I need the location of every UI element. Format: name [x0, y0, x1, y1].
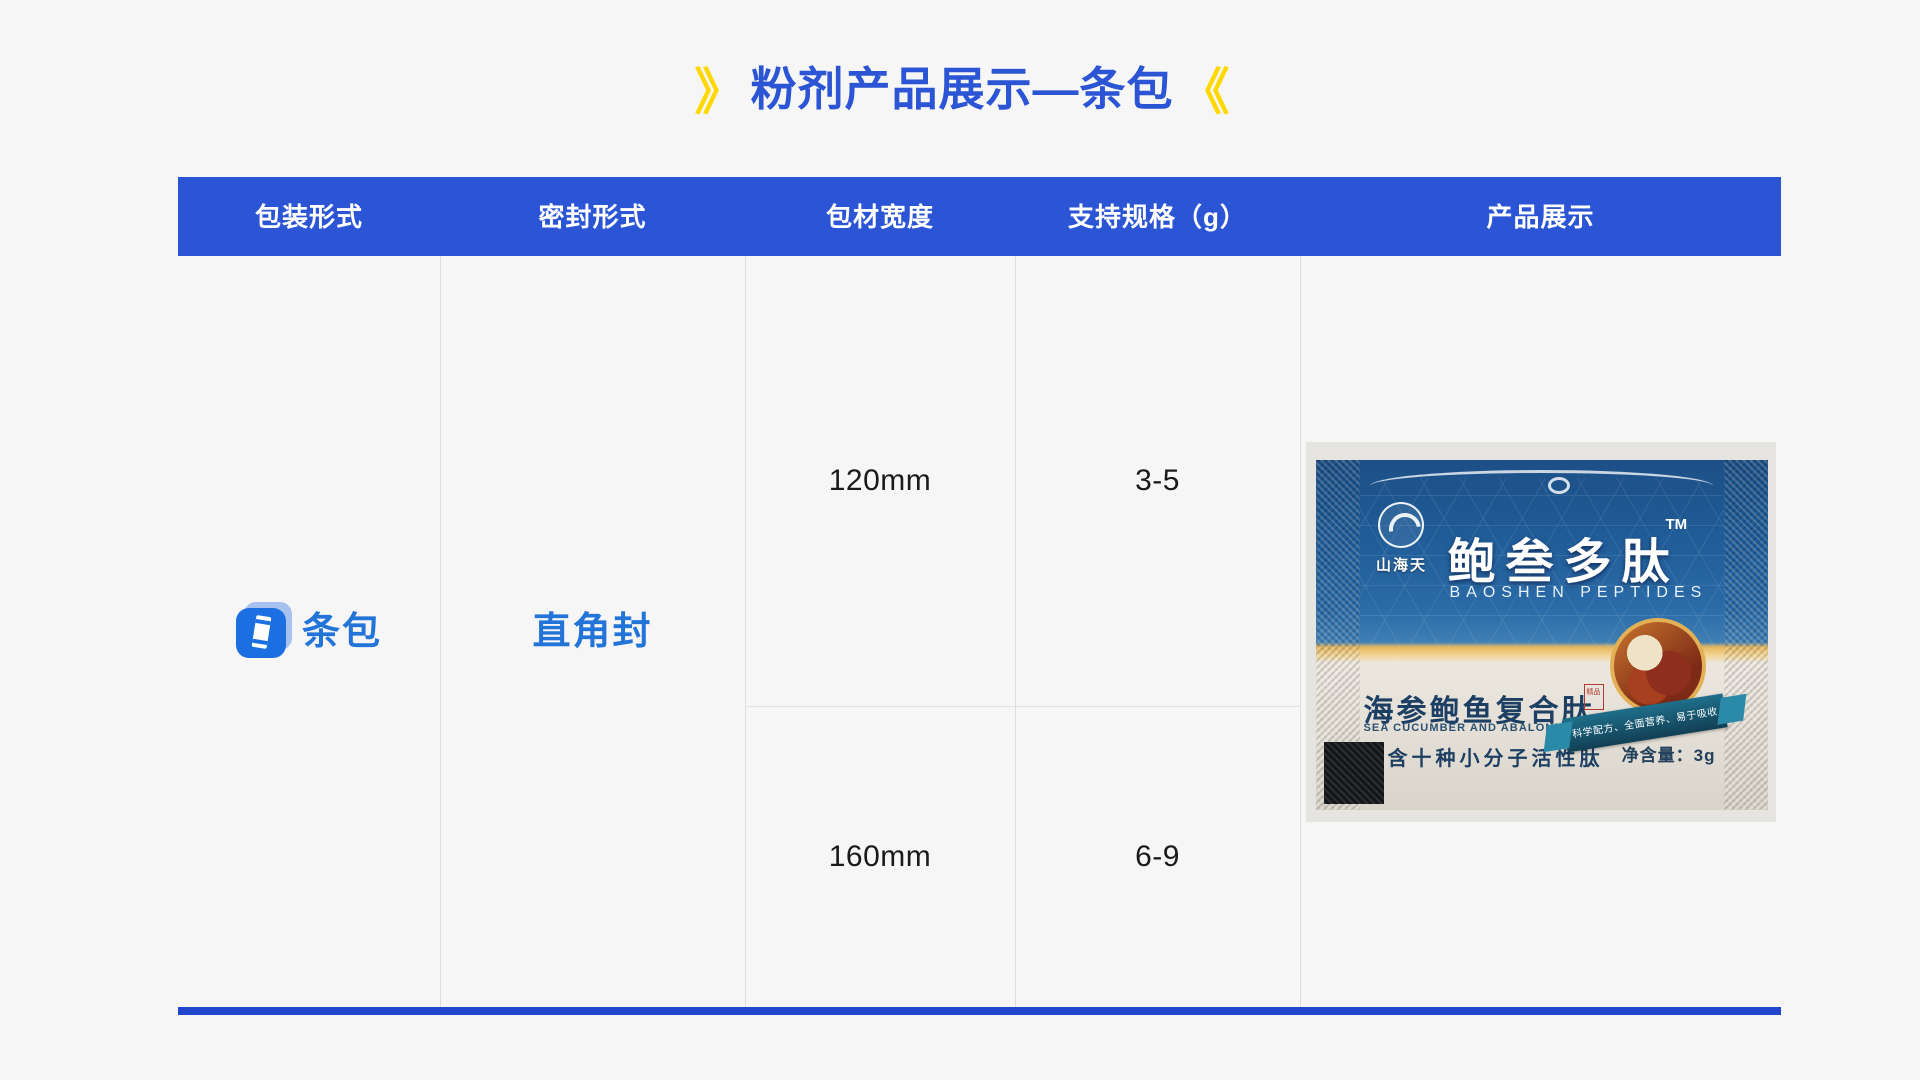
- table-header-row: 包装形式 密封形式 包材宽度 支持规格（g） 产品展示: [178, 177, 1781, 256]
- brand-mark-text: 山海天: [1364, 554, 1440, 575]
- cell-package-form: 条包: [178, 256, 440, 1007]
- column-header-seal-form: 密封形式: [440, 204, 745, 230]
- cell-seal-form: 直角封: [440, 256, 745, 1007]
- cell-material-width-row2: 160mm: [745, 706, 1015, 1007]
- stick-pack-icon: [236, 606, 288, 658]
- trademark-symbol: TM: [1666, 516, 1688, 533]
- product-photo: 山海天 鲍叁多肽 TM BAOSHEN PEPTIDES 海参鲍鱼复合肽 精品 …: [1306, 442, 1776, 822]
- cell-product-display: 山海天 鲍叁多肽 TM BAOSHEN PEPTIDES 海参鲍鱼复合肽 精品 …: [1300, 256, 1781, 1007]
- spec-value: 6-9: [1135, 840, 1180, 874]
- quality-stamp: 精品: [1584, 684, 1604, 710]
- column-header-product-display: 产品展示: [1300, 204, 1781, 230]
- net-weight-text: 净含量：3g: [1622, 741, 1716, 766]
- page-title-text: 粉剂产品展示—条包: [751, 53, 1174, 119]
- spec-value: 3-5: [1135, 464, 1180, 498]
- sachet-artwork: 山海天 鲍叁多肽 TM BAOSHEN PEPTIDES 海参鲍鱼复合肽 精品 …: [1316, 460, 1768, 810]
- column-header-package-form: 包装形式: [178, 204, 440, 230]
- column-header-material-width: 包材宽度: [745, 204, 1015, 230]
- slide-root: 》粉剂产品展示—条包《 包装形式 密封形式 包材宽度 支持规格（g） 产品展示: [0, 0, 1920, 1080]
- column-header-spec-g: 支持规格（g）: [1015, 204, 1300, 230]
- product-name-en: BAOSHEN PEPTIDES: [1450, 584, 1708, 602]
- material-width-value: 120mm: [829, 464, 932, 498]
- table-body: 条包 直角封 120mm 3-5 160mm 6-9: [178, 256, 1781, 1007]
- tear-strip-notch: [1324, 742, 1384, 804]
- material-width-value: 160mm: [829, 840, 932, 874]
- product-name-cn: 鲍叁多肽: [1448, 522, 1680, 592]
- package-form-label: 条包: [302, 613, 382, 651]
- page-title: 》粉剂产品展示—条包《: [0, 52, 1920, 124]
- chevron-left-decor-right-icon: 《: [1180, 52, 1226, 124]
- spec-table: 包装形式 密封形式 包材宽度 支持规格（g） 产品展示 条: [178, 177, 1781, 1007]
- cell-material-width-row1: 120mm: [745, 256, 1015, 706]
- seal-form-label: 直角封: [532, 613, 652, 651]
- cell-spec-row2: 6-9: [1015, 706, 1300, 1007]
- table-bottom-rule: [178, 1007, 1781, 1015]
- cell-spec-row1: 3-5: [1015, 256, 1300, 706]
- brand-logo-icon: [1378, 502, 1424, 548]
- chevron-right-decor-left-icon: 》: [695, 52, 741, 124]
- tear-notch-decor: [1370, 470, 1714, 486]
- emboss-texture-right: [1724, 460, 1768, 810]
